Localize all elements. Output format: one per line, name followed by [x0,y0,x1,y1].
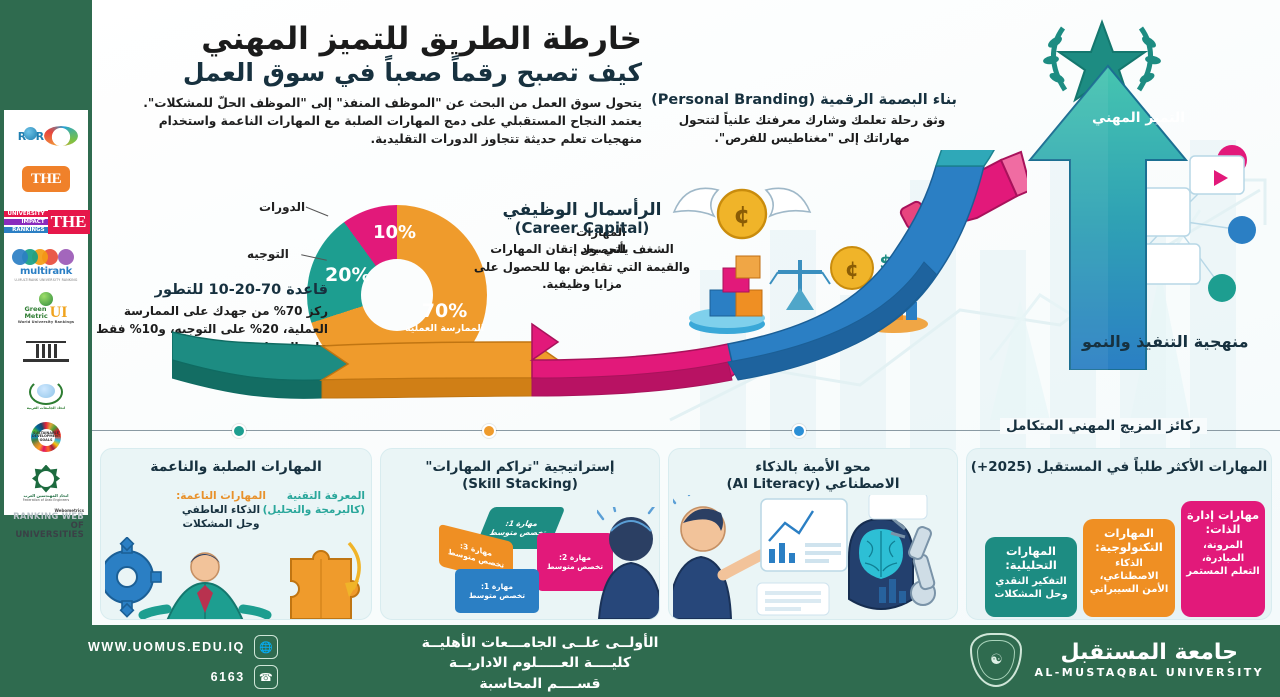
the-impact-logo: THE UNIVERSITY IMPACT RANKINGS [7,202,85,242]
panel-3-illustration [673,495,957,619]
timeline-dot-2[interactable] [482,424,496,438]
multirank-logo: multirank U-MULTIRANK UNIVERSITY RANKING [7,245,85,285]
multirank-logo-text: multirank [20,266,72,277]
webometrics-line2: OF UNIVERSITIES [8,522,84,540]
footer-phone-row[interactable]: ☎ 6163 [88,665,278,689]
footer-phone: 6163 [211,670,245,684]
phone-icon: ☎ [254,665,278,689]
panel-1-illustration [105,537,372,620]
footer-line-3: قســــم المحاسبة [330,674,750,694]
rankings-sidebar: RUR THE THE UNIVERSITY IMPACT RANKINGS [0,0,92,697]
label-implementation-methodology: منهجية التنفيذ والنمو [1082,332,1248,351]
panel-2-title: إستراتيجية "تراكم المهارات"(Skill Stacki… [381,449,659,493]
rur-logo: RUR [7,116,85,156]
sdg-logo-text: SUSTAINABLE DEVELOPMENT GOALS [38,429,55,446]
the-impact-logo-text: THE [48,210,90,234]
skill-piece-4: مهارة 1:تخصص متوسط [455,569,539,613]
the-impact-bar-1: UNIVERSITY [4,211,47,218]
ui-greenmetric-caption: World University Rankings [18,320,74,324]
card-self-management-title: مهارات إدارة الذات: [1186,508,1260,537]
panel-1-soft-body: الذكاء العاطفيوحل المشكلات [182,504,260,530]
the-impact-bar-2: IMPACT [4,219,47,226]
ui-greenmetric-initials: UI [50,306,68,320]
future-skill-card-technological[interactable]: المهارات التكنولوجية: الذكاء الاصطناعي،ا… [1083,519,1175,617]
card-technological-body: الذكاء الاصطناعي،الأمن السيبراني [1088,557,1170,596]
future-skill-card-self-management[interactable]: مهارات إدارة الذات: المرونة، المبادرة،ال… [1181,501,1265,617]
columns-logo [7,331,85,371]
timeline-dot-3[interactable] [792,424,806,438]
label-professional-excellence: التميز المهني [1092,110,1185,126]
future-skill-card-analytical[interactable]: المهارات التحليلية: التفكير النقديوحل ال… [985,537,1077,617]
panel-1-title: المهارات الصلبة والناعمة [101,449,371,477]
personal-branding-body: وثق رحلة تعلمك وشارك معرفتك علنياً لتتحو… [667,111,957,147]
sdg-logo: SUSTAINABLE DEVELOPMENT GOALS [7,417,85,457]
personal-branding-block: بناء البصمة الرقمية (Personal Branding) … [667,92,957,147]
panel-1-hard-label: المعرفة التقنية [287,490,365,502]
title-block: خارطة الطريق للتميز المهني كيف تصبح رقما… [92,22,632,149]
the-logo: THE [7,159,85,199]
rankings-logo-stack: RUR THE THE UNIVERSITY IMPACT RANKINGS [4,110,88,515]
footer-brand-en: AL-MUSTAQBAL UNIVERSITY [1034,666,1264,679]
footer-website-row[interactable]: 🌐 WWW.UOMUS.EDU.IQ [88,635,278,659]
skill-stacking-cube: مهارة 1:تخصص متوسط مهارة 2:تخصص متوسط مه… [433,507,623,615]
footer-line-2: كليــــة العـــــلوم الاداريــة [330,653,750,673]
webometrics-logo: Webometrics RANKING WEB OF UNIVERSITIES [7,509,85,539]
infographic-body: خارطة الطريق للتميز المهني كيف تصبح رقما… [92,0,1280,625]
page-footer: 🌐 WWW.UOMUS.EDU.IQ ☎ 6163 الأولــى علــى… [0,625,1280,697]
page-lede: يتحول سوق العمل من البحث عن "الموظف المن… [122,95,642,148]
panel-1-soft-label: المهارات الناعمة: [176,490,266,502]
multirank-logo-sub: U-MULTIRANK UNIVERSITY RANKING [15,278,78,282]
university-shield-logo: ☯ [970,633,1022,687]
footer-contact: 🌐 WWW.UOMUS.EDU.IQ ☎ 6163 [88,635,278,689]
personal-branding-title: بناء البصمة الرقمية (Personal Branding) [667,92,957,108]
panel-4-title: المهارات الأكثر طلباً في المستقبل (2025+… [967,449,1271,476]
card-technological-title: المهارات التكنولوجية: [1088,526,1170,555]
panel-1-soft-skills: المهارات الناعمة: الذكاء العاطفيوحل المش… [161,489,281,532]
upward-arrow-excellence [1012,40,1202,370]
footer-brand-ar: جامعة المستقبل [1034,641,1264,665]
panel-skill-stacking[interactable]: إستراتيجية "تراكم المهارات"(Skill Stacki… [380,448,660,620]
ui-greenmetric-metric: Metric [24,312,47,320]
panel-2-person-illustration [597,507,660,619]
card-analytical-body: التفكير النقديوحل المشكلات [990,575,1072,601]
label-integrated-pillars: ركائز المزيج المهني المتكامل [1000,418,1207,434]
ui-greenmetric-logo: UI Green Metric World University Ranking… [7,288,85,328]
arab-universities-logo: اتحاد الجامعات العربية [7,374,85,414]
arab-universities-caption: اتحاد الجامعات العربية [27,406,65,410]
footer-website: WWW.UOMUS.EDU.IQ [88,640,245,654]
fae-caption-en: Federation of Arab Engineers [23,498,69,502]
infographic-canvas: RUR THE THE UNIVERSITY IMPACT RANKINGS [0,0,1280,697]
panel-future-skills[interactable]: المهارات الأكثر طلباً في المستقبل (2025+… [966,448,1272,620]
footer-center-text: الأولــى علــى الجامـــعات الأهليــة كلي… [330,633,750,694]
timeline-dot-1[interactable] [232,424,246,438]
the-logo-text: THE [22,166,70,192]
page-subtitle: كيف تصبح رقماً صعباً في سوق العمل [92,59,642,88]
panel-3-title: محو الأمية بالذكاءالاصطناعي (AI Literacy… [669,449,957,493]
card-analytical-title: المهارات التحليلية: [990,544,1072,573]
footer-brand-text: جامعة المستقبل AL-MUSTAQBAL UNIVERSITY [1034,641,1264,678]
globe-icon: 🌐 [254,635,278,659]
university-shield-inner: ☯ [977,640,1015,680]
card-self-management-body: المرونة، المبادرة،التعلم المستمر [1186,539,1260,578]
panel-hard-soft-skills[interactable]: المهارات الصلبة والناعمة المعرفة التقنية… [100,448,372,620]
the-impact-bar-3: RANKINGS [4,227,47,234]
footer-line-1: الأولــى علــى الجامـــعات الأهليــة [330,633,750,653]
federation-arab-engineers-logo: اتحاد المهندسين العرب Federation of Arab… [7,460,85,506]
footer-university-brand: جامعة المستقبل AL-MUSTAQBAL UNIVERSITY ☯ [970,633,1264,687]
page-title: خارطة الطريق للتميز المهني [92,22,642,57]
panel-ai-literacy[interactable]: محو الأمية بالذكاءالاصطناعي (AI Literacy… [668,448,958,620]
